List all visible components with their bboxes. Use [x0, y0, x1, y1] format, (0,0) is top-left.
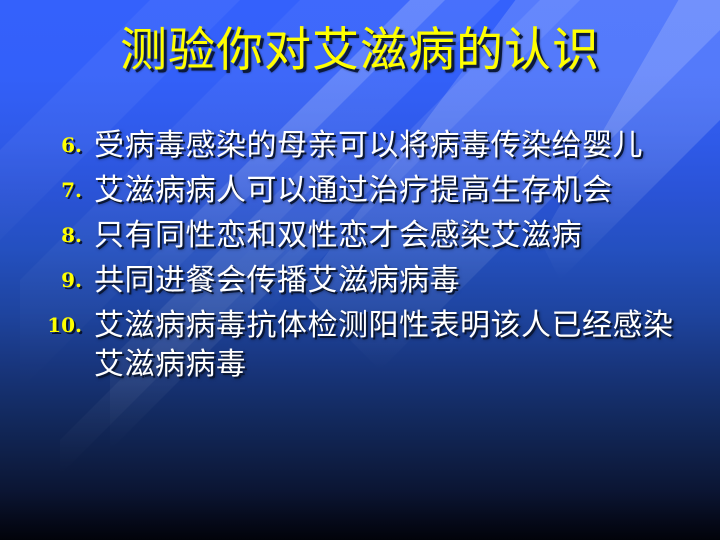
list-item: 8. 只有同性恋和双性恋才会感染艾滋病: [26, 216, 702, 255]
list-item-text: 只有同性恋和双性恋才会感染艾滋病: [94, 216, 702, 255]
slide-body-list: 6. 受病毒感染的母亲可以将病毒传染给婴儿 7. 艾滋病病人可以通过治疗提高生存…: [26, 126, 702, 390]
list-item: 10. 艾滋病病毒抗体检测阳性表明该人已经感染艾滋病病毒: [26, 306, 702, 384]
list-item-text: 艾滋病病人可以通过治疗提高生存机会: [94, 171, 702, 210]
list-item-text: 共同进餐会传播艾滋病病毒: [94, 261, 702, 300]
list-item-number: 7.: [26, 171, 94, 210]
list-item-text: 艾滋病病毒抗体检测阳性表明该人已经感染艾滋病病毒: [94, 306, 702, 384]
list-item-number: 10.: [26, 306, 94, 345]
slide-title: 测验你对艾滋病的认识: [120, 26, 600, 77]
list-item-number: 6.: [26, 126, 94, 165]
slide-title-block: 测验你对艾滋病的认识: [0, 26, 720, 77]
list-item: 6. 受病毒感染的母亲可以将病毒传染给婴儿: [26, 126, 702, 165]
presentation-slide: 测验你对艾滋病的认识 6. 受病毒感染的母亲可以将病毒传染给婴儿 7. 艾滋病病…: [0, 0, 720, 540]
list-item: 7. 艾滋病病人可以通过治疗提高生存机会: [26, 171, 702, 210]
list-item-number: 9.: [26, 261, 94, 300]
list-item-number: 8.: [26, 216, 94, 255]
list-item-text: 受病毒感染的母亲可以将病毒传染给婴儿: [94, 126, 702, 165]
list-item: 9. 共同进餐会传播艾滋病病毒: [26, 261, 702, 300]
